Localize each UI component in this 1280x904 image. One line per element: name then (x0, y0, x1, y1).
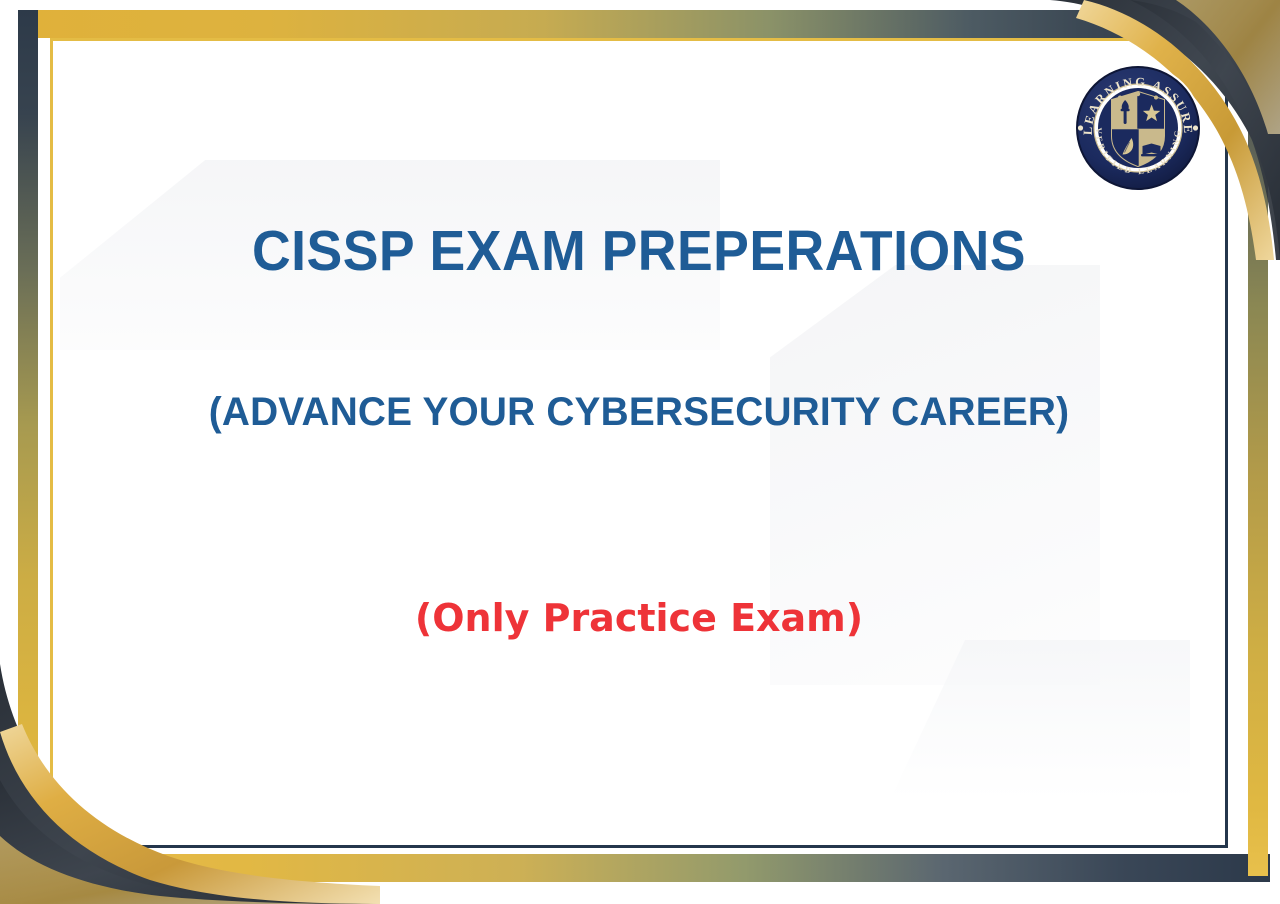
frame-bar-left (18, 10, 38, 876)
presentation-slide: CISSP EXAM PREPERATIONS (ADVANCE YOUR CY… (0, 0, 1280, 904)
frame-bar-right (1248, 10, 1268, 876)
page-title: CISSP EXAM PREPERATIONS (91, 218, 1187, 284)
frame-bar-top (18, 10, 1270, 38)
page-subtitle: (ADVANCE YOUR CYBERSECURITY CAREER) (73, 390, 1204, 435)
slide-content: CISSP EXAM PREPERATIONS (ADVANCE YOUR CY… (56, 44, 1222, 842)
learning-assure-logo-icon: LEARNING ASSURE VERIFIED LEARNING (1072, 62, 1204, 194)
frame-bar-bottom (18, 854, 1270, 882)
practice-exam-note: (Only Practice Exam) (56, 596, 1222, 640)
